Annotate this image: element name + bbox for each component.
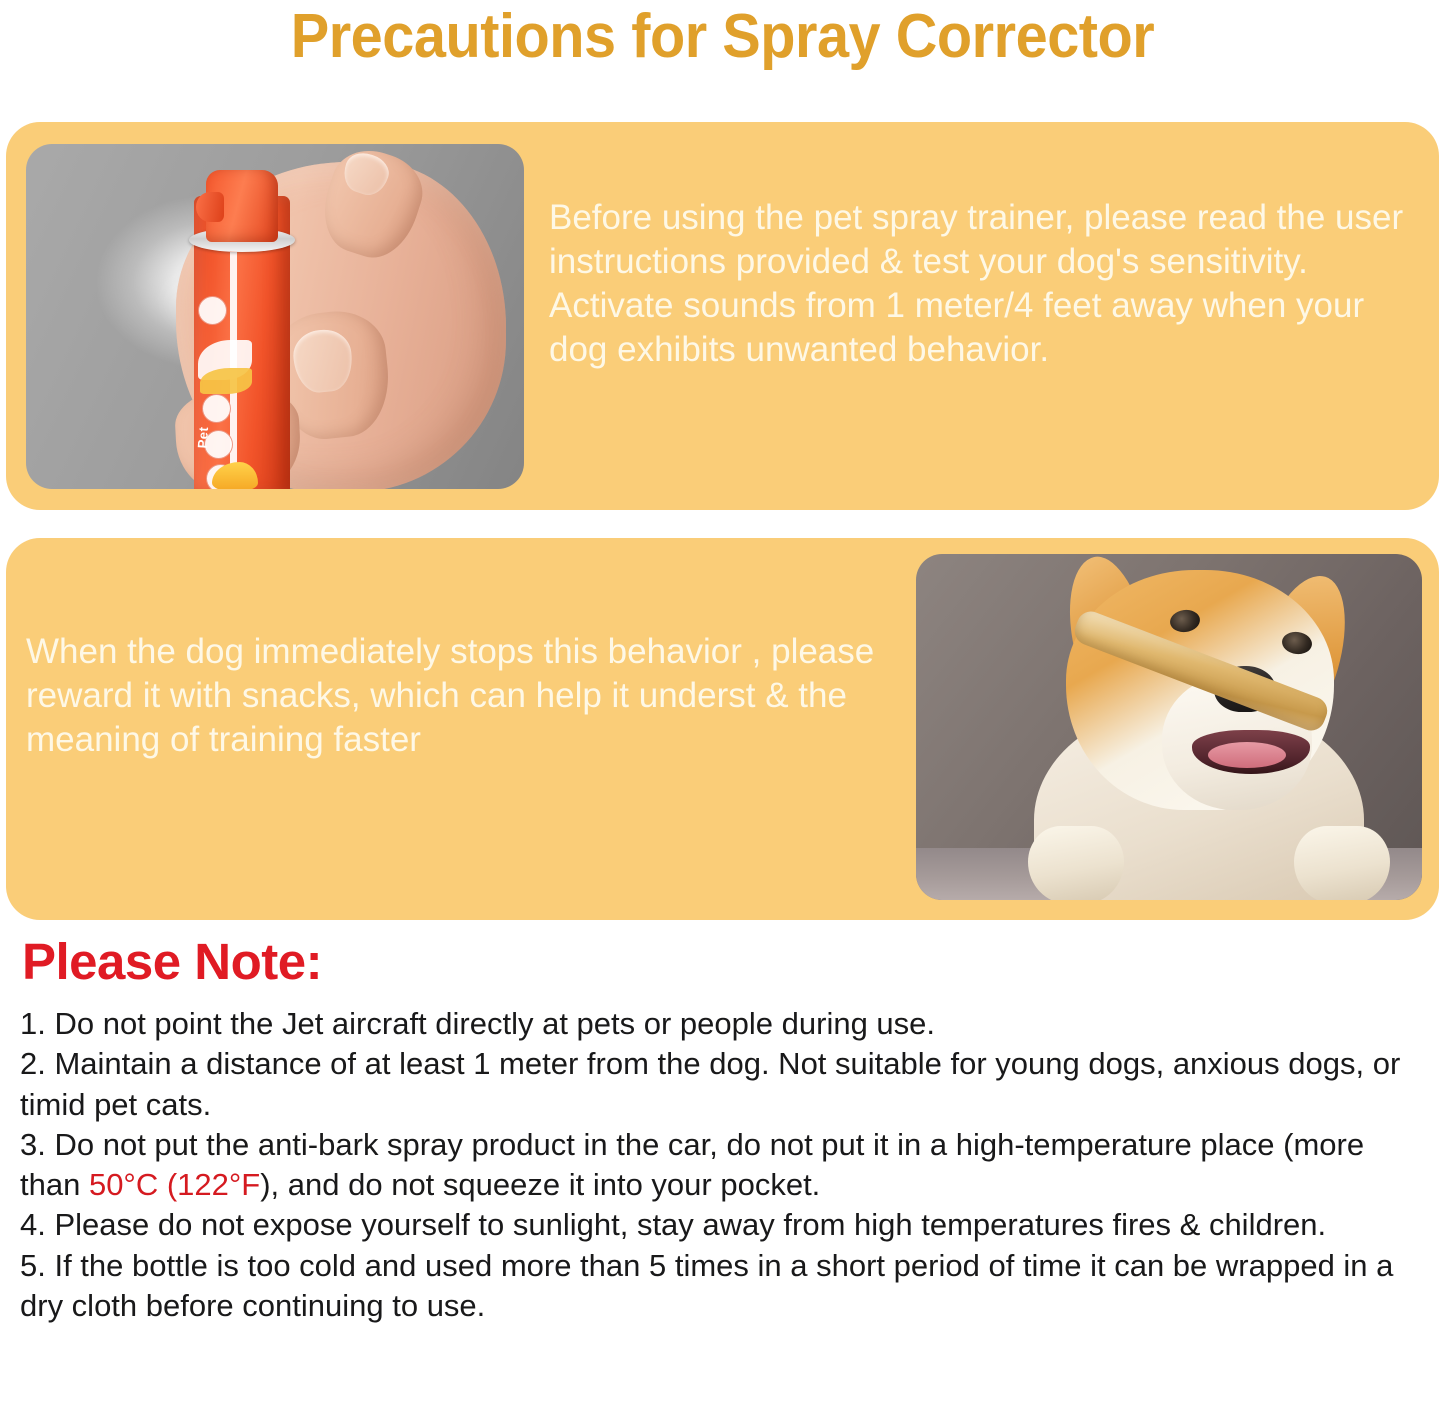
- infographic-page: Precautions for Spray Corrector Pet Befo…: [0, 0, 1445, 1407]
- note-item-3-suffix: ), and do not squeeze it into your pocke…: [260, 1167, 820, 1202]
- note-item-3: 3. Do not put the anti-bark spray produc…: [20, 1125, 1426, 1206]
- note-item-5: 5. If the bottle is too cold and used mo…: [20, 1246, 1426, 1327]
- can-brand-label: Pet: [195, 426, 211, 449]
- warning-icon-spray: [202, 394, 231, 423]
- warning-icon-flame: [198, 296, 227, 325]
- can-nozzle-spout: [196, 192, 224, 222]
- can-swoosh-yellow: [200, 368, 252, 394]
- spray-can-photo: Pet: [26, 144, 524, 489]
- dog-tongue: [1208, 742, 1286, 768]
- note-item-2: 2. Maintain a distance of at least 1 met…: [20, 1044, 1426, 1125]
- panel-two-text: When the dog immediately stops this beha…: [26, 630, 896, 762]
- note-list: 1. Do not point the Jet aircraft directl…: [20, 1004, 1426, 1326]
- dog-photo: [916, 554, 1422, 900]
- note-item-3-temperature-highlight: 50°C (122°F: [89, 1167, 260, 1202]
- page-title: Precautions for Spray Corrector: [51, 4, 1395, 70]
- dog-paw-left: [1028, 826, 1124, 900]
- panel-one-text: Before using the pet spray trainer, plea…: [549, 196, 1411, 372]
- note-heading: Please Note:: [22, 932, 322, 991]
- note-item-1: 1. Do not point the Jet aircraft directl…: [20, 1004, 1426, 1044]
- note-item-4: 4. Please do not expose yourself to sunl…: [20, 1205, 1426, 1245]
- dog-paw-right: [1294, 826, 1390, 900]
